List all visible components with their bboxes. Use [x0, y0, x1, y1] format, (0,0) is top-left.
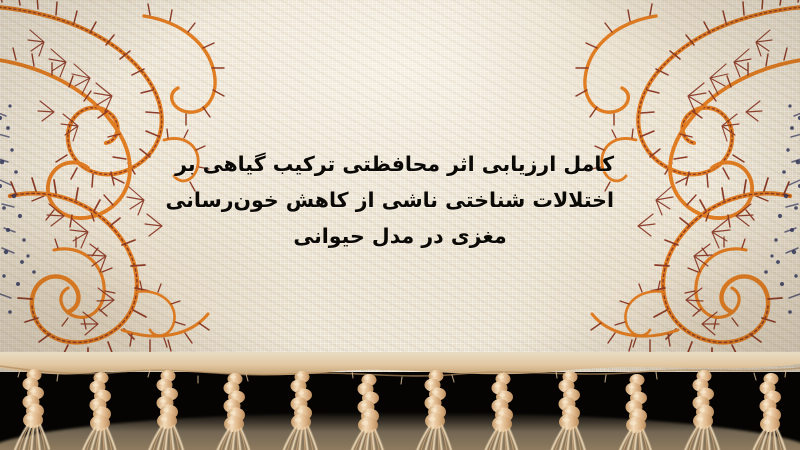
- title-line-2: اختلالات شناختی ناشی از کاهش خون‌رسانی: [186, 182, 614, 218]
- banner-title: کامل ارزیابی اثر محافظتی ترکیب گیاهی بر …: [186, 146, 614, 254]
- title-line-1: کامل ارزیابی اثر محافظتی ترکیب گیاهی بر: [186, 146, 614, 182]
- title-line-3: مغزی در مدل حیوانی: [186, 218, 614, 254]
- fabric-hem-shadow: [0, 412, 800, 450]
- banner-canvas: کامل ارزیابی اثر محافظتی ترکیب گیاهی بر …: [0, 0, 800, 450]
